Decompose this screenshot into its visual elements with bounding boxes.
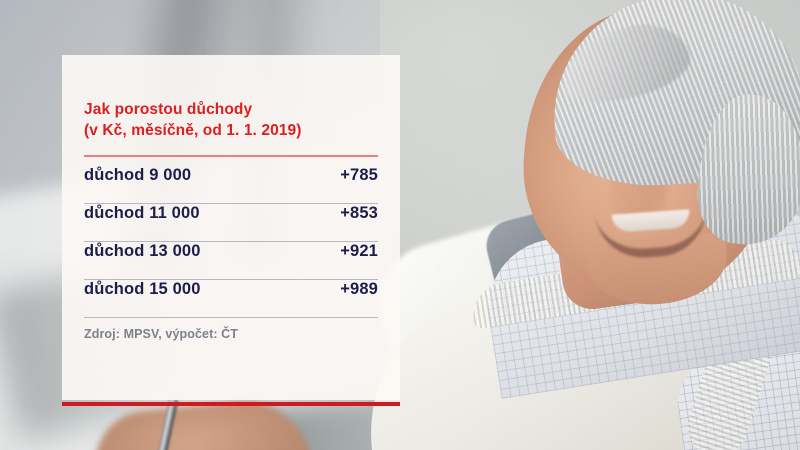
- title-divider: [84, 155, 378, 157]
- row-value: +989: [340, 280, 378, 299]
- news-graphic-screenshot: Jak porostou důchody (v Kč, měsíčně, od …: [0, 0, 800, 450]
- row-value: +785: [340, 166, 378, 185]
- row-value: +921: [340, 242, 378, 261]
- pension-table: důchod 9 000 +785 důchod 11 000 +853 důc…: [84, 166, 378, 318]
- row-label: důchod 15 000: [84, 280, 201, 299]
- table-row: důchod 9 000 +785: [84, 166, 378, 204]
- info-card: Jak porostou důchody (v Kč, měsíčně, od …: [62, 55, 400, 400]
- row-value: +853: [340, 204, 378, 223]
- row-label: důchod 11 000: [84, 204, 200, 223]
- table-row: důchod 15 000 +989: [84, 280, 378, 318]
- row-label: důchod 9 000: [84, 166, 191, 185]
- page-title: Jak porostou důchody (v Kč, měsíčně, od …: [84, 99, 378, 142]
- table-row: důchod 13 000 +921: [84, 242, 378, 280]
- source-caption: Zdroj: MPSV, výpočet: ČT: [84, 327, 378, 341]
- accent-bar: [62, 402, 400, 406]
- row-label: důchod 13 000: [84, 242, 201, 261]
- table-row: důchod 11 000 +853: [84, 204, 378, 242]
